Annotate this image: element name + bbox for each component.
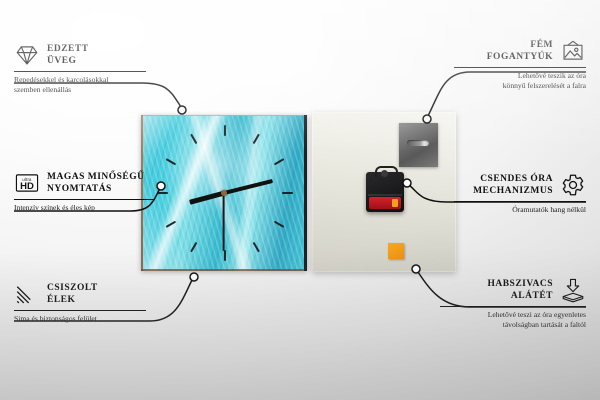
callout-title: CSENDES ÓRA MECHANIZMUS bbox=[473, 173, 553, 197]
clock-tick bbox=[224, 125, 226, 136]
infographic-canvas: EDZETT ÜVEG Repedésekkel és karcolásokka… bbox=[0, 0, 600, 400]
hanger-slot bbox=[407, 140, 429, 146]
callout-desc-line2: távolságban tartását a faltól bbox=[440, 320, 586, 330]
connector-dot-polished-edges bbox=[190, 273, 198, 281]
clock-face-panel bbox=[141, 115, 307, 271]
mechanism-shaft bbox=[381, 170, 388, 177]
callout-head: CSISZOLT ÉLEK bbox=[14, 281, 146, 307]
callout-high-quality-print: ultra HD MAGAS MINŐSÉGŰ NYOMTATÁS Intenz… bbox=[14, 170, 154, 213]
clock-tick bbox=[224, 250, 226, 261]
callout-desc-line1: Lehetővé teszik az óra bbox=[454, 71, 586, 81]
callout-tempered-glass: EDZETT ÜVEG Repedésekkel és karcolásokka… bbox=[14, 42, 146, 95]
panel-edge-right bbox=[304, 115, 307, 271]
callout-metal-handles: FÉM FOGANTYÚK Lehetővé teszik az óra kön… bbox=[454, 38, 586, 91]
connector-dot-tempered-glass bbox=[178, 106, 186, 114]
foam-spacer-pad bbox=[388, 243, 404, 259]
clock-tick bbox=[282, 192, 293, 194]
callout-head: ultra HD MAGAS MINŐSÉGŰ NYOMTATÁS bbox=[14, 170, 154, 196]
gear-icon bbox=[560, 172, 586, 198]
callout-desc-line1: Óramutatók hang nélkül bbox=[454, 205, 586, 215]
callout-divider bbox=[14, 310, 146, 311]
callout-title: CSISZOLT ÉLEK bbox=[47, 282, 98, 306]
callout-head: FÉM FOGANTYÚK bbox=[454, 38, 586, 64]
callout-polished-edges: CSISZOLT ÉLEK Sima és biztonságos felüle… bbox=[14, 281, 146, 324]
polished-edges-icon bbox=[14, 281, 40, 307]
callout-desc-line1: Intenzív színek és éles kép bbox=[14, 203, 154, 213]
clock-center-hub bbox=[221, 190, 227, 196]
callout-divider bbox=[14, 199, 154, 200]
clock-back-panel bbox=[312, 112, 456, 272]
callout-desc-line2: szemben ellenállás bbox=[14, 85, 146, 95]
callout-divider bbox=[14, 71, 146, 72]
callout-title: FÉM FOGANTYÚK bbox=[487, 39, 553, 63]
clock-second-hand bbox=[223, 193, 225, 251]
callout-silent-mechanism: CSENDES ÓRA MECHANIZMUS Óramutatók hang … bbox=[454, 172, 586, 215]
callout-head: EDZETT ÜVEG bbox=[14, 42, 146, 68]
callout-title: HABSZIVACS ALÁTÉT bbox=[487, 278, 553, 302]
callout-head: CSENDES ÓRA MECHANIZMUS bbox=[454, 172, 586, 198]
picture-hanger-icon bbox=[560, 38, 586, 64]
callout-desc-line1: Lehetővé teszi az óra egyenletes bbox=[440, 310, 586, 320]
panel-edge-top bbox=[141, 115, 307, 116]
foam-pad-arrow-icon bbox=[560, 277, 586, 303]
callout-title: MAGAS MINŐSÉGŰ NYOMTATÁS bbox=[47, 171, 145, 195]
callout-foam-pad: HABSZIVACS ALÁTÉT Lehetővé teszi az óra … bbox=[440, 277, 586, 330]
callout-title: EDZETT ÜVEG bbox=[47, 43, 89, 67]
callout-desc-line2: könnyű felszerelését a falra bbox=[454, 81, 586, 91]
metal-hanger-bracket bbox=[399, 123, 438, 167]
clock-tick bbox=[157, 192, 168, 194]
ultra-hd-icon: ultra HD bbox=[14, 170, 40, 196]
ultra-hd-icon-big-label: HD bbox=[14, 181, 40, 192]
mechanism-battery bbox=[369, 197, 401, 209]
mechanism-seam bbox=[368, 194, 402, 196]
panel-edge-bottom bbox=[141, 269, 307, 271]
callout-desc-line1: Repedésekkel és karcolásokkal bbox=[14, 75, 146, 85]
callout-desc-line1: Sima és biztonságos felület bbox=[14, 314, 146, 324]
quartz-clock-mechanism bbox=[366, 172, 404, 212]
callout-divider bbox=[440, 306, 586, 307]
diamond-icon bbox=[14, 42, 40, 68]
callout-divider bbox=[454, 67, 586, 68]
callout-divider bbox=[454, 201, 586, 202]
callout-head: HABSZIVACS ALÁTÉT bbox=[440, 277, 586, 303]
